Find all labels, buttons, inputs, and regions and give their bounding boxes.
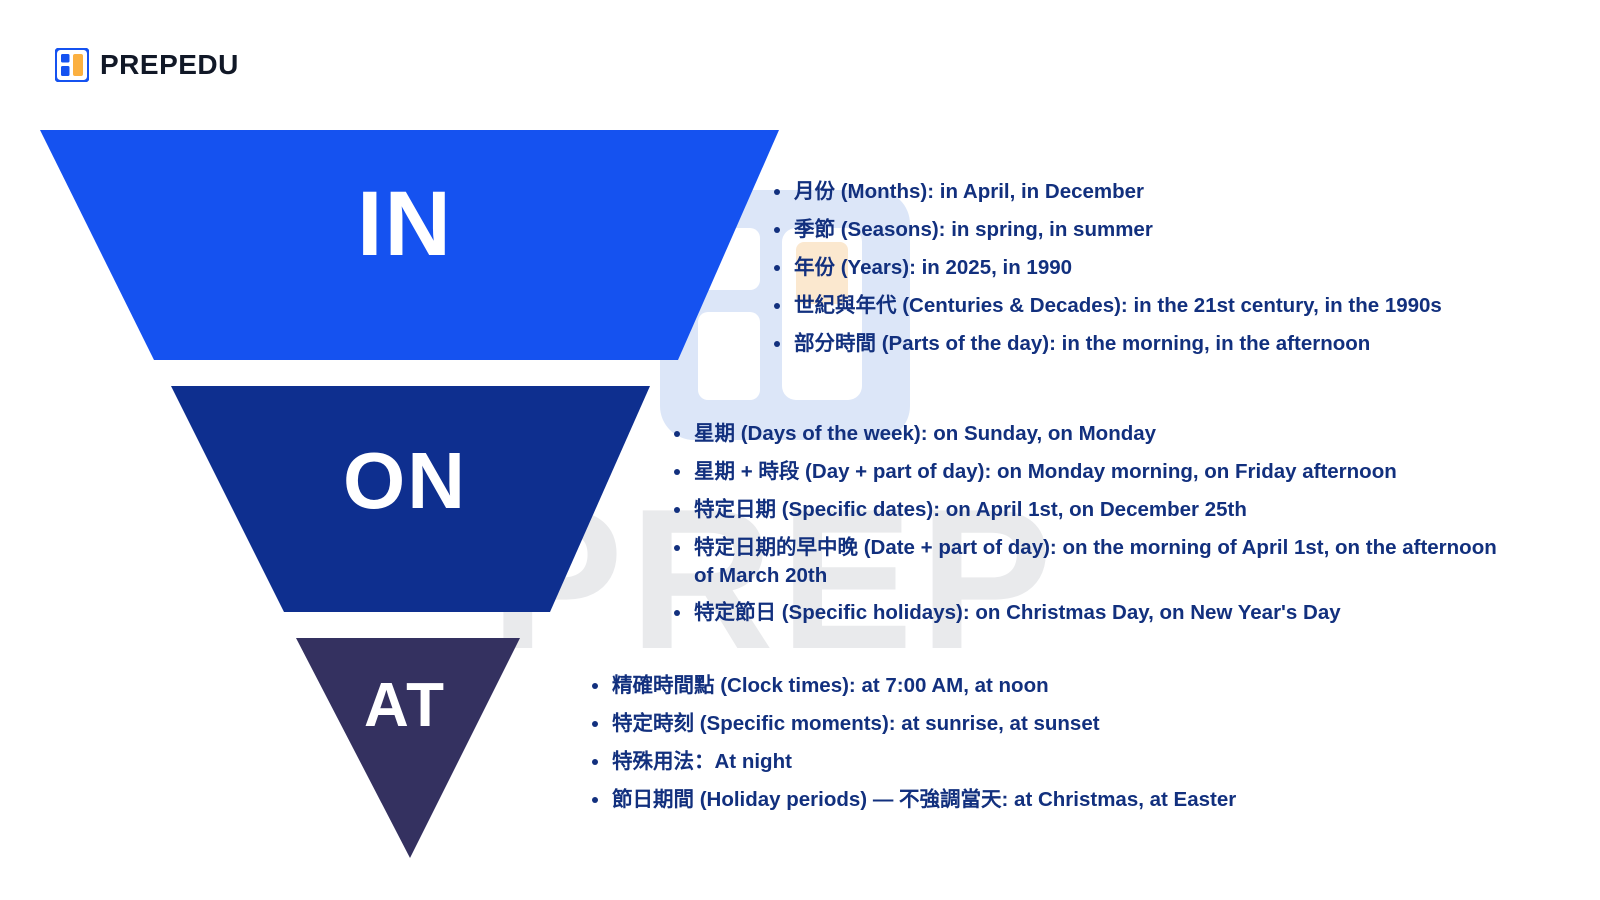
- list-item: 星期 (Days of the week): on Sunday, on Mon…: [672, 420, 1512, 448]
- list-item: 特定節日 (Specific holidays): on Christmas D…: [672, 599, 1512, 627]
- list-item: 部分時間 (Parts of the day): in the morning,…: [772, 330, 1572, 358]
- rules-list-at: 精確時間點 (Clock times): at 7:00 AM, at noon…: [590, 672, 1440, 824]
- prep-logo-icon: [55, 48, 89, 82]
- brand-logo: PREPEDU: [55, 48, 239, 82]
- list-item: 特定日期的早中晚 (Date + part of day): on the mo…: [672, 534, 1512, 590]
- list-item: 精確時間點 (Clock times): at 7:00 AM, at noon: [590, 672, 1440, 700]
- list-item: 特定時刻 (Specific moments): at sunrise, at …: [590, 710, 1440, 738]
- list-item: 世紀與年代 (Centuries & Decades): in the 21st…: [772, 292, 1572, 320]
- brand-name: PREPEDU: [100, 49, 239, 81]
- rules-list-in: 月份 (Months): in April, in December 季節 (S…: [772, 178, 1572, 367]
- funnel-label-in: IN: [0, 172, 810, 277]
- list-item: 年份 (Years): in 2025, in 1990: [772, 254, 1572, 282]
- list-item: 特定日期 (Specific dates): on April 1st, on …: [672, 496, 1512, 524]
- list-item: 特殊用法：At night: [590, 748, 1440, 776]
- rules-list-on: 星期 (Days of the week): on Sunday, on Mon…: [672, 420, 1512, 637]
- list-item: 月份 (Months): in April, in December: [772, 178, 1572, 206]
- list-item: 星期 + 時段 (Day + part of day): on Monday m…: [672, 458, 1512, 486]
- list-item: 節日期間 (Holiday periods) — 不強調當天: at Chris…: [590, 786, 1440, 814]
- list-item: 季節 (Seasons): in spring, in summer: [772, 216, 1572, 244]
